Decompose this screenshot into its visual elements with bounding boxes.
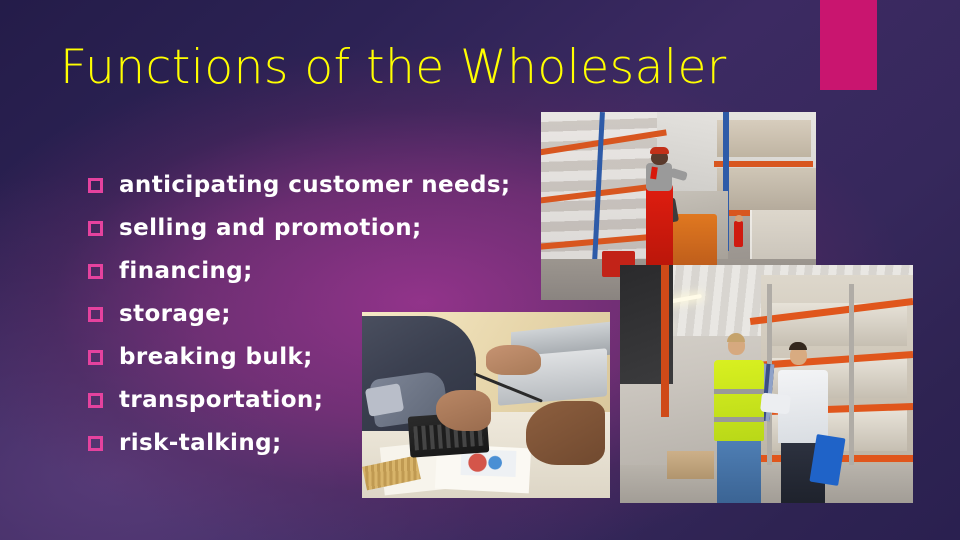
list-item-label: storage; [119,301,231,327]
list-item-label: selling and promotion; [119,215,422,241]
photo3-vest-stripe [714,389,764,394]
photo2-second-hand [526,401,605,464]
photo3-upright [849,284,854,489]
square-bullet-icon [88,393,103,408]
photo2-typing-hand [486,345,541,375]
photo3-boxes [667,451,714,480]
photo3-businessman-hair [789,342,807,350]
image-office-calculator-paperwork [362,312,610,498]
image-warehouse-handshake [620,265,913,503]
presentation-slide: Functions of the Wholesaler [0,0,960,540]
square-bullet-icon [88,436,103,451]
square-bullet-icon [88,178,103,193]
photo2-writing-hand [436,390,491,431]
list-item-label: risk-talking; [119,430,282,456]
photo1-pallet [717,168,816,209]
list-item-label: transportation; [119,387,323,413]
photo1-beam [714,161,813,167]
square-bullet-icon [88,350,103,365]
list-item-label: anticipating customer needs; [119,172,511,198]
square-bullet-icon [88,264,103,279]
photo3-vest-stripe [714,417,764,422]
square-bullet-icon [88,307,103,322]
photo3-floor [620,465,913,503]
list-item-label: breaking bulk; [119,344,313,370]
photo1-worker-cap [650,147,669,154]
list-item-label: financing; [119,258,253,284]
photo3-businessman-arm [760,392,791,414]
photo3-orange-column [661,265,669,417]
photo3-worker-jeans [717,439,761,503]
decorative-pink-rectangle [820,0,877,90]
photo3-hi-vis-vest [714,360,764,441]
page-title: Functions of the Wholesaler [60,42,727,94]
photo1-second-worker [734,221,743,247]
square-bullet-icon [88,221,103,236]
photo1-pallet [717,120,811,158]
